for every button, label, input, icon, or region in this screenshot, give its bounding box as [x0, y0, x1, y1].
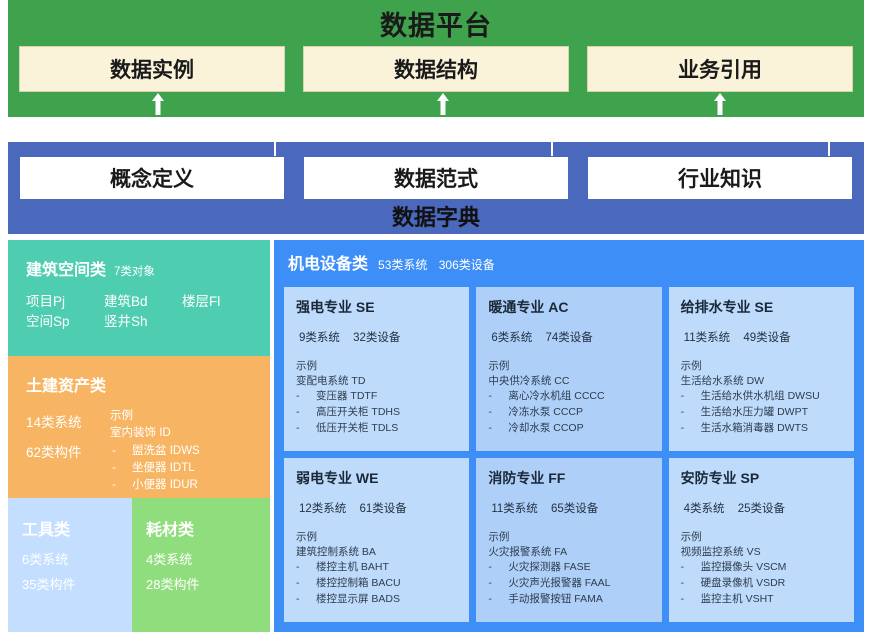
list-item: -小便器 IDUR: [110, 477, 264, 494]
card-example-item: 高压开关柜 TDHS: [316, 405, 400, 421]
list-item: -楼控控制箱 BACU: [296, 576, 457, 592]
card-example-label: 示例: [296, 359, 457, 374]
space-item-building: 建筑Bd: [104, 292, 182, 312]
card-example-item: 生活水箱消毒器 DWTS: [701, 421, 808, 437]
dash-icon: -: [296, 421, 312, 437]
platform-box-data-instance[interactable]: 数据实例: [19, 46, 285, 92]
card-systems-count: 11类系统: [684, 332, 730, 344]
card-example-list: -楼控主机 BAHT -楼控控制箱 BACU -楼控显示屏 BADS: [296, 560, 457, 607]
card-example-system: 视频监控系统 VS: [681, 545, 842, 560]
dash-icon: -: [488, 560, 504, 576]
category-consumable-title: 耗材类: [146, 516, 194, 540]
card-example-list: -变压器 TDTF -高压开关柜 TDHS -低压开关柜 TDLS: [296, 389, 457, 436]
card-example-item: 手动报警按钮 FAMA: [508, 592, 603, 608]
space-item-floor: 楼层Fl: [182, 292, 260, 312]
mechanical-title: 机电设备类: [288, 250, 368, 274]
dash-icon: -: [112, 477, 126, 494]
category-mechanical-electrical: 机电设备类 53类系统 306类设备 强电专业 SE 9类系统 32类设备 示例…: [274, 240, 864, 632]
arrow-up-icon-1: [151, 93, 165, 115]
card-example-label: 示例: [488, 359, 649, 374]
category-building-space[interactable]: 建筑空间类 7类对象 项目Pj 建筑Bd 楼层Fl 空间Sp 竖井Sh: [8, 240, 270, 356]
card-example-system: 建筑控制系统 BA: [296, 545, 457, 560]
dash-icon: -: [681, 576, 697, 592]
data-platform-diagram: 数据平台 数据实例 数据结构 业务引用 概念定义 数据范式 行业知识 数据字典: [0, 0, 872, 641]
civil-asset-parts-count: 62类构件: [26, 438, 110, 468]
list-item: -变压器 TDTF: [296, 389, 457, 405]
dash-icon: -: [488, 405, 504, 421]
card-example-item: 监控摄像头 VSCM: [701, 560, 787, 576]
arrow-up-icon-2: [436, 93, 450, 115]
card-example-label: 示例: [681, 530, 842, 545]
category-tool[interactable]: 工具类 6类系统 35类构件: [8, 498, 132, 632]
dash-icon: -: [296, 576, 312, 592]
civil-asset-item-3: 小便器 IDUR: [132, 477, 198, 494]
card-title: 安防专业 SP: [681, 468, 842, 488]
list-item: -坐便器 IDTL: [110, 460, 264, 477]
consumable-systems-count: 4类系统: [146, 548, 199, 573]
platform-band: 数据平台 数据实例 数据结构 业务引用: [8, 0, 864, 117]
data-dictionary-title: 数据字典: [8, 200, 864, 232]
list-item: -楼控主机 BAHT: [296, 560, 457, 576]
dash-icon: -: [681, 592, 697, 608]
card-example-item: 楼控显示屏 BADS: [316, 592, 400, 608]
dash-icon: -: [681, 389, 697, 405]
space-item-project: 项目Pj: [26, 292, 104, 312]
category-building-space-header: 建筑空间类 7类对象: [26, 256, 155, 280]
discipline-card-grid: 强电专业 SE 9类系统 32类设备 示例 变配电系统 TD -变压器 TDTF…: [284, 287, 854, 622]
category-consumable-stats: 4类系统 28类构件: [146, 548, 199, 597]
arrow-up-icon-3: [713, 93, 727, 115]
dash-icon: -: [112, 460, 126, 477]
platform-box-row: 数据实例 数据结构 业务引用: [19, 46, 853, 92]
dash-icon: -: [112, 443, 126, 460]
category-civil-asset[interactable]: 土建资产类 14类系统 62类构件 示例 室内装饰 ID -盥洗盆 IDWS -…: [8, 356, 270, 498]
card-counts: 6类系统 74类设备: [488, 329, 649, 345]
list-item: -火灾探测器 FASE: [488, 560, 649, 576]
dash-icon: -: [296, 592, 312, 608]
card-counts: 12类系统 61类设备: [296, 500, 457, 516]
card-title: 弱电专业 WE: [296, 468, 457, 488]
civil-asset-item-2: 坐便器 IDTL: [132, 460, 195, 477]
civil-asset-stats: 14类系统 62类构件: [26, 408, 110, 494]
dictionary-box-data-paradigm[interactable]: 数据范式: [303, 156, 569, 200]
card-example-item: 监控主机 VSHT: [701, 592, 774, 608]
card-example-item: 低压开关柜 TDLS: [316, 421, 398, 437]
list-item: -生活给水压力罐 DWPT: [681, 405, 842, 421]
card-example-label: 示例: [488, 530, 649, 545]
card-title: 消防专业 FF: [488, 468, 649, 488]
card-example-list: -离心冷水机组 CCCC -冷冻水泵 CCCP -冷却水泵 CCOP: [488, 389, 649, 436]
list-item: -楼控显示屏 BADS: [296, 592, 457, 608]
mechanical-header: 机电设备类 53类系统 306类设备: [288, 250, 503, 274]
space-item-space: 空间Sp: [26, 312, 104, 332]
dictionary-box-row: 概念定义 数据范式 行业知识: [19, 156, 853, 200]
list-item: -冷冻水泵 CCCP: [488, 405, 649, 421]
card-systems-count: 12类系统: [299, 503, 346, 515]
dash-icon: -: [296, 405, 312, 421]
list-item: -手动报警按钮 FAMA: [488, 592, 649, 608]
card-devices-count: 32类设备: [353, 332, 400, 344]
dash-icon: -: [488, 592, 504, 608]
platform-box-business-reference[interactable]: 业务引用: [587, 46, 853, 92]
card-title: 给排水专业 SE: [681, 297, 842, 317]
category-building-space-subtitle: 7类对象: [114, 263, 155, 279]
tool-parts-count: 35类构件: [22, 573, 75, 598]
civil-asset-example: 示例 室内装饰 ID -盥洗盆 IDWS -坐便器 IDTL -小便器 IDUR: [110, 408, 264, 494]
list-item: -监控摄像头 VSCM: [681, 560, 842, 576]
card-title: 强电专业 SE: [296, 297, 457, 317]
card-example-system: 变配电系统 TD: [296, 374, 457, 389]
list-item: -硬盘录像机 VSDR: [681, 576, 842, 592]
data-dictionary-band: 概念定义 数据范式 行业知识 数据字典: [8, 142, 864, 234]
page-title: 数据平台: [8, 4, 864, 43]
dash-icon: -: [488, 576, 504, 592]
card-systems-count: 6类系统: [491, 332, 532, 344]
civil-asset-example-system: 室内装饰 ID: [110, 425, 264, 442]
list-item: -低压开关柜 TDLS: [296, 421, 457, 437]
card-example-label: 示例: [296, 530, 457, 545]
card-example-item: 冷却水泵 CCOP: [508, 421, 583, 437]
list-item: -生活水箱消毒器 DWTS: [681, 421, 842, 437]
dash-icon: -: [488, 421, 504, 437]
civil-asset-example-list: -盥洗盆 IDWS -坐便器 IDTL -小便器 IDUR: [110, 443, 264, 495]
mechanical-devices-count: 306类设备: [439, 258, 495, 272]
space-item-row-1: 项目Pj 建筑Bd 楼层Fl: [26, 292, 262, 312]
card-counts: 11类系统 49类设备: [681, 329, 842, 345]
space-item-shaft: 竖井Sh: [104, 312, 182, 332]
card-example-item: 楼控控制箱 BACU: [316, 576, 401, 592]
civil-asset-systems-count: 14类系统: [26, 408, 110, 438]
platform-box-data-structure[interactable]: 数据结构: [303, 46, 569, 92]
space-item-row-2: 空间Sp 竖井Sh: [26, 312, 262, 332]
card-devices-count: 65类设备: [551, 503, 598, 515]
card-example-system: 生活给水系统 DW: [681, 374, 842, 389]
card-systems-count: 11类系统: [491, 503, 537, 515]
list-item: -火灾声光报警器 FAAL: [488, 576, 649, 592]
dash-icon: -: [488, 389, 504, 405]
category-civil-asset-body: 14类系统 62类构件 示例 室内装饰 ID -盥洗盆 IDWS -坐便器 ID…: [26, 408, 264, 494]
category-building-space-items: 项目Pj 建筑Bd 楼层Fl 空间Sp 竖井Sh: [26, 292, 262, 333]
card-example-item: 火灾探测器 FASE: [508, 560, 590, 576]
card-example-label: 示例: [681, 359, 842, 374]
dash-icon: -: [681, 421, 697, 437]
card-example-item: 生活给水压力罐 DWPT: [701, 405, 808, 421]
body-area: 建筑空间类 7类对象 项目Pj 建筑Bd 楼层Fl 空间Sp 竖井Sh: [8, 240, 864, 632]
list-item: -高压开关柜 TDHS: [296, 405, 457, 421]
card-example-item: 硬盘录像机 VSDR: [701, 576, 786, 592]
card-devices-count: 25类设备: [738, 503, 785, 515]
card-example-list: -生活给水供水机组 DWSU -生活给水压力罐 DWPT -生活水箱消毒器 DW…: [681, 389, 842, 436]
card-example-item: 火灾声光报警器 FAAL: [508, 576, 610, 592]
card-example-list: -火灾探测器 FASE -火灾声光报警器 FAAL -手动报警按钮 FAMA: [488, 560, 649, 607]
dash-icon: -: [681, 405, 697, 421]
discipline-card-fire-fighting[interactable]: 消防专业 FF 11类系统 65类设备 示例 火灾报警系统 FA -火灾探测器 …: [476, 458, 661, 622]
card-example-item: 生活给水供水机组 DWSU: [701, 389, 820, 405]
tool-systems-count: 6类系统: [22, 548, 75, 573]
list-item: -离心冷水机组 CCCC: [488, 389, 649, 405]
dash-icon: -: [296, 389, 312, 405]
discipline-card-security[interactable]: 安防专业 SP 4类系统 25类设备 示例 视频监控系统 VS -监控摄像头 V…: [669, 458, 854, 622]
civil-asset-example-label: 示例: [110, 408, 264, 425]
category-civil-asset-title: 土建资产类: [26, 372, 106, 396]
category-building-space-title: 建筑空间类: [26, 256, 106, 280]
card-example-item: 楼控主机 BAHT: [316, 560, 389, 576]
consumable-parts-count: 28类构件: [146, 573, 199, 598]
mechanical-systems-count: 53类系统: [378, 258, 427, 272]
list-item: -盥洗盆 IDWS: [110, 443, 264, 460]
list-item: -监控主机 VSHT: [681, 592, 842, 608]
civil-asset-item-1: 盥洗盆 IDWS: [132, 443, 200, 460]
card-example-item: 离心冷水机组 CCCC: [508, 389, 604, 405]
card-systems-count: 4类系统: [684, 503, 725, 515]
card-counts: 4类系统 25类设备: [681, 500, 842, 516]
category-tool-title: 工具类: [22, 516, 70, 540]
left-category-column: 建筑空间类 7类对象 项目Pj 建筑Bd 楼层Fl 空间Sp 竖井Sh: [8, 240, 270, 632]
mechanical-stats: 53类系统 306类设备: [378, 256, 503, 273]
discipline-card-strong-electric[interactable]: 强电专业 SE 9类系统 32类设备 示例 变配电系统 TD -变压器 TDTF…: [284, 287, 469, 451]
dash-icon: -: [296, 560, 312, 576]
card-example-list: -监控摄像头 VSCM -硬盘录像机 VSDR -监控主机 VSHT: [681, 560, 842, 607]
discipline-card-weak-electric[interactable]: 弱电专业 WE 12类系统 61类设备 示例 建筑控制系统 BA -楼控主机 B…: [284, 458, 469, 622]
card-example-item: 冷冻水泵 CCCP: [508, 405, 583, 421]
card-title: 暖通专业 AC: [488, 297, 649, 317]
card-counts: 11类系统 65类设备: [488, 500, 649, 516]
list-item: -冷却水泵 CCOP: [488, 421, 649, 437]
dictionary-box-industry-knowledge[interactable]: 行业知识: [587, 156, 853, 200]
card-systems-count: 9类系统: [299, 332, 340, 344]
card-example-system: 中央供冷系统 CC: [488, 374, 649, 389]
card-example-system: 火灾报警系统 FA: [488, 545, 649, 560]
card-devices-count: 74类设备: [545, 332, 592, 344]
dash-icon: -: [681, 560, 697, 576]
category-consumable[interactable]: 耗材类 4类系统 28类构件: [132, 498, 270, 632]
discipline-card-hvac[interactable]: 暖通专业 AC 6类系统 74类设备 示例 中央供冷系统 CC -离心冷水机组 …: [476, 287, 661, 451]
card-devices-count: 49类设备: [743, 332, 790, 344]
list-item: -生活给水供水机组 DWSU: [681, 389, 842, 405]
category-tool-stats: 6类系统 35类构件: [22, 548, 75, 597]
card-devices-count: 61类设备: [360, 503, 407, 515]
card-counts: 9类系统 32类设备: [296, 329, 457, 345]
dictionary-box-concept-definition[interactable]: 概念定义: [19, 156, 285, 200]
card-example-item: 变压器 TDTF: [316, 389, 377, 405]
discipline-card-plumbing[interactable]: 给排水专业 SE 11类系统 49类设备 示例 生活给水系统 DW -生活给水供…: [669, 287, 854, 451]
